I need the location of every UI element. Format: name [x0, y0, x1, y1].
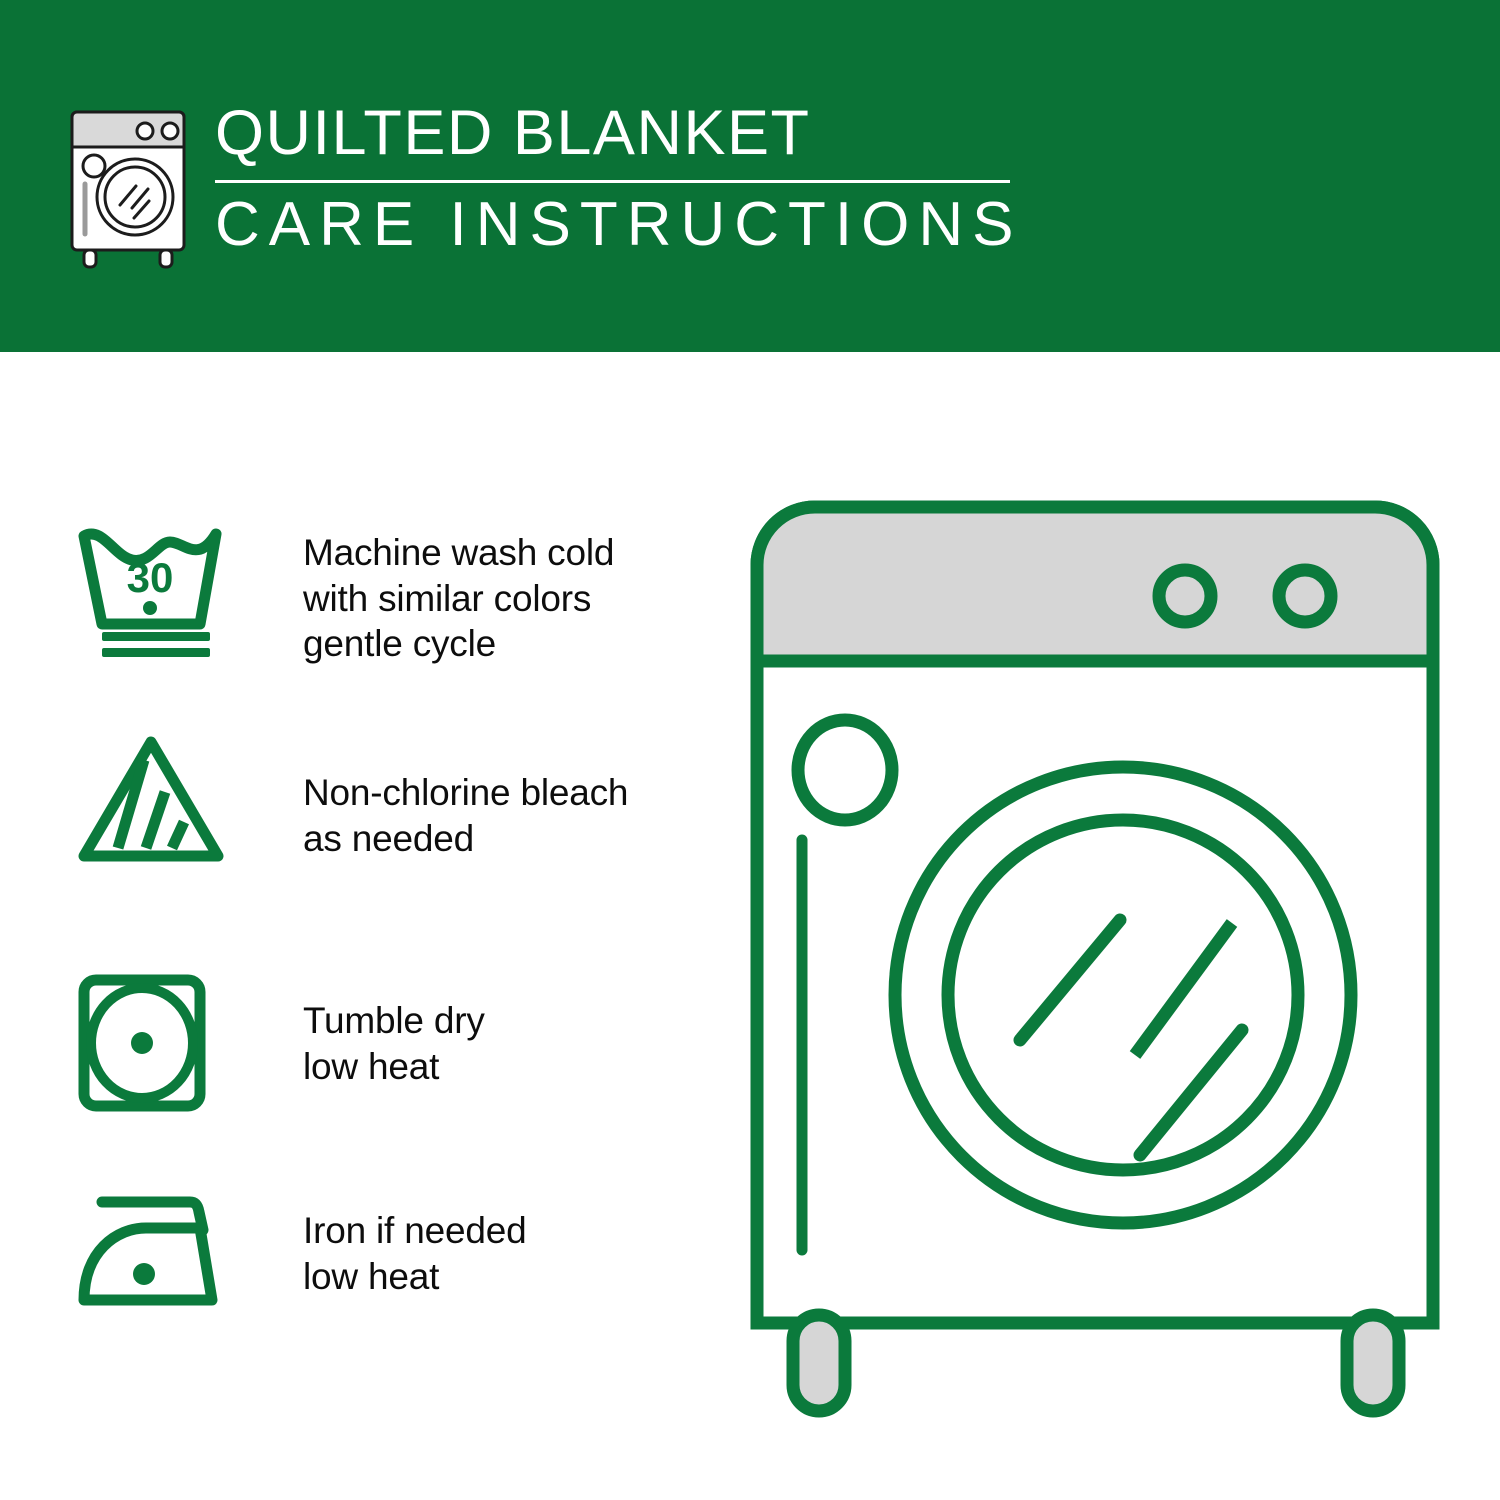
wash-tub-30-icon: 30 [72, 520, 240, 665]
header-banner: QUILTED BLANKET CARE INSTRUCTIONS [0, 0, 1500, 352]
title-divider [215, 180, 1010, 183]
page-title: QUILTED BLANKET [215, 100, 1025, 166]
care-text-machine-wash: Machine wash cold with similar colors ge… [303, 530, 614, 667]
front-load-washing-machine-illustration [745, 495, 1445, 1420]
care-instructions-infographic: QUILTED BLANKET CARE INSTRUCTIONS 30 [0, 0, 1500, 1500]
washing-machine-icon [62, 104, 204, 272]
care-text-iron: Iron if needed low heat [303, 1208, 526, 1299]
care-instruction-list: 30 Machine wash cold with similar colors… [0, 352, 720, 1500]
care-text-bleach: Non-chlorine bleach as needed [303, 770, 628, 861]
page-subtitle: CARE INSTRUCTIONS [215, 191, 1025, 259]
tumble-dry-low-icon [72, 970, 212, 1121]
care-text-tumble-dry: Tumble dry low heat [303, 998, 485, 1089]
svg-text:30: 30 [127, 554, 174, 601]
non-chlorine-bleach-triangle-icon [72, 730, 230, 875]
iron-low-heat-icon [72, 1190, 232, 1325]
header-text-block: QUILTED BLANKET CARE INSTRUCTIONS [215, 100, 1025, 259]
